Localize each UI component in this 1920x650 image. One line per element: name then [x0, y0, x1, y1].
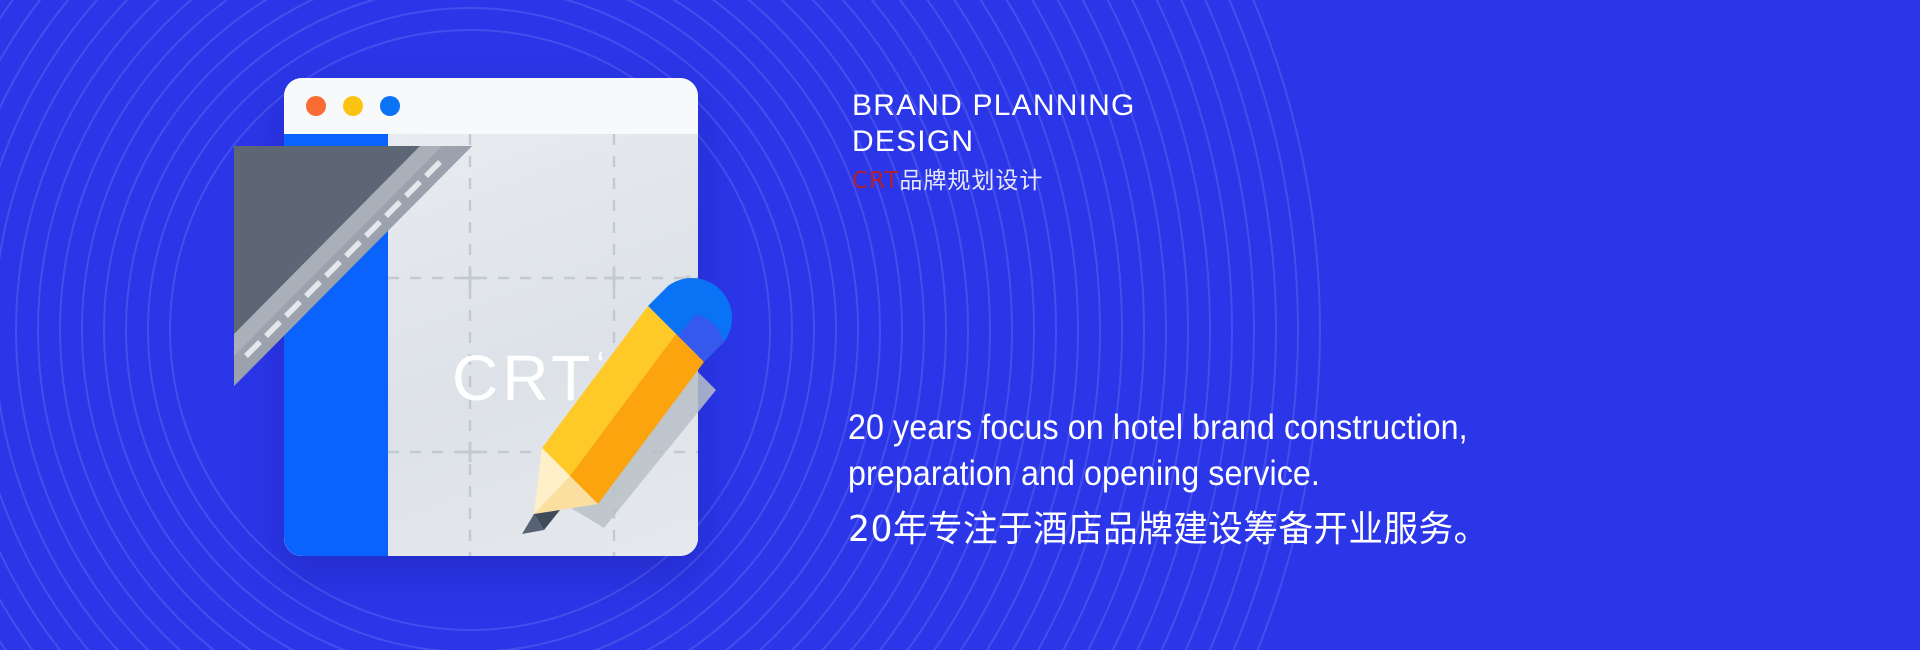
close-dot — [306, 96, 326, 116]
window-titlebar — [284, 78, 698, 134]
page-title: BRAND PLANNING DESIGN — [852, 88, 1492, 160]
sub-headline-text: 品牌规划设计 — [899, 168, 1043, 194]
brand-banner: CRT‘ — [0, 0, 1920, 650]
pencil-icon — [508, 278, 734, 550]
window-controls — [306, 96, 400, 116]
design-illustration: CRT‘ — [228, 78, 698, 556]
tagline-block: 20 years focus on hotel brand constructi… — [848, 405, 1848, 553]
tagline-chinese: 20年专注于酒店品牌建设筹备开业服务。 — [848, 507, 1808, 553]
set-square-ruler-icon — [228, 140, 478, 392]
sub-headline-brand: CRT — [852, 168, 899, 194]
minimize-dot — [343, 96, 363, 116]
tagline-english: 20 years focus on hotel brand constructi… — [848, 405, 1768, 497]
sub-headline: CRT品牌规划设计 — [852, 166, 1492, 196]
headline-block: BRAND PLANNING DESIGN CRT品牌规划设计 — [852, 88, 1492, 196]
maximize-dot — [380, 96, 400, 116]
